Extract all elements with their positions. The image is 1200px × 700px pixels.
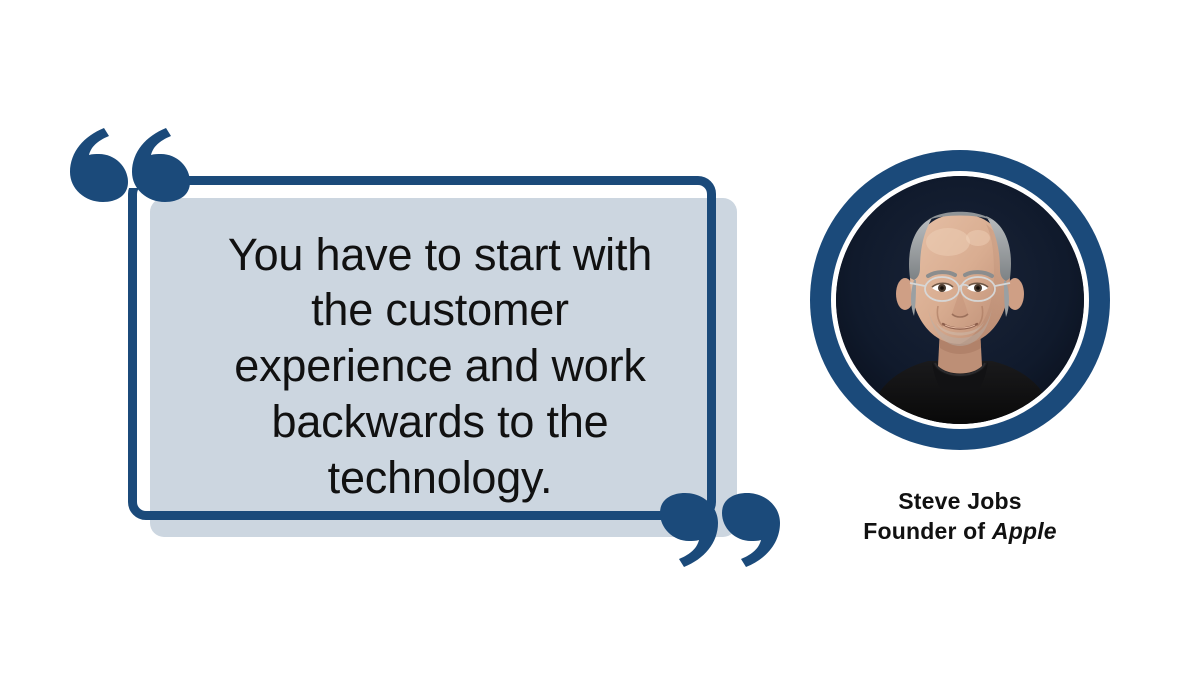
right-double-quotation-mark-icon [722,488,780,567]
author-role-company: Apple [992,518,1057,544]
left-double-quotation-mark-icon [132,128,190,207]
quote-card: You have to start with the customer expe… [0,0,1200,700]
author-role: Founder of Apple [800,518,1120,545]
author-name: Steve Jobs [800,488,1120,515]
avatar [836,176,1084,424]
author-block: Steve Jobs Founder of Apple [800,0,1200,700]
opening-quote-marks [70,128,190,207]
author-role-prefix: Founder of [863,518,992,544]
avatar-ring [810,150,1110,450]
left-double-quotation-mark-icon [70,128,128,207]
quote-block: You have to start with the customer expe… [0,0,800,700]
quote-text: You have to start with the customer expe… [160,206,720,526]
avatar-inner-gap [831,171,1089,429]
